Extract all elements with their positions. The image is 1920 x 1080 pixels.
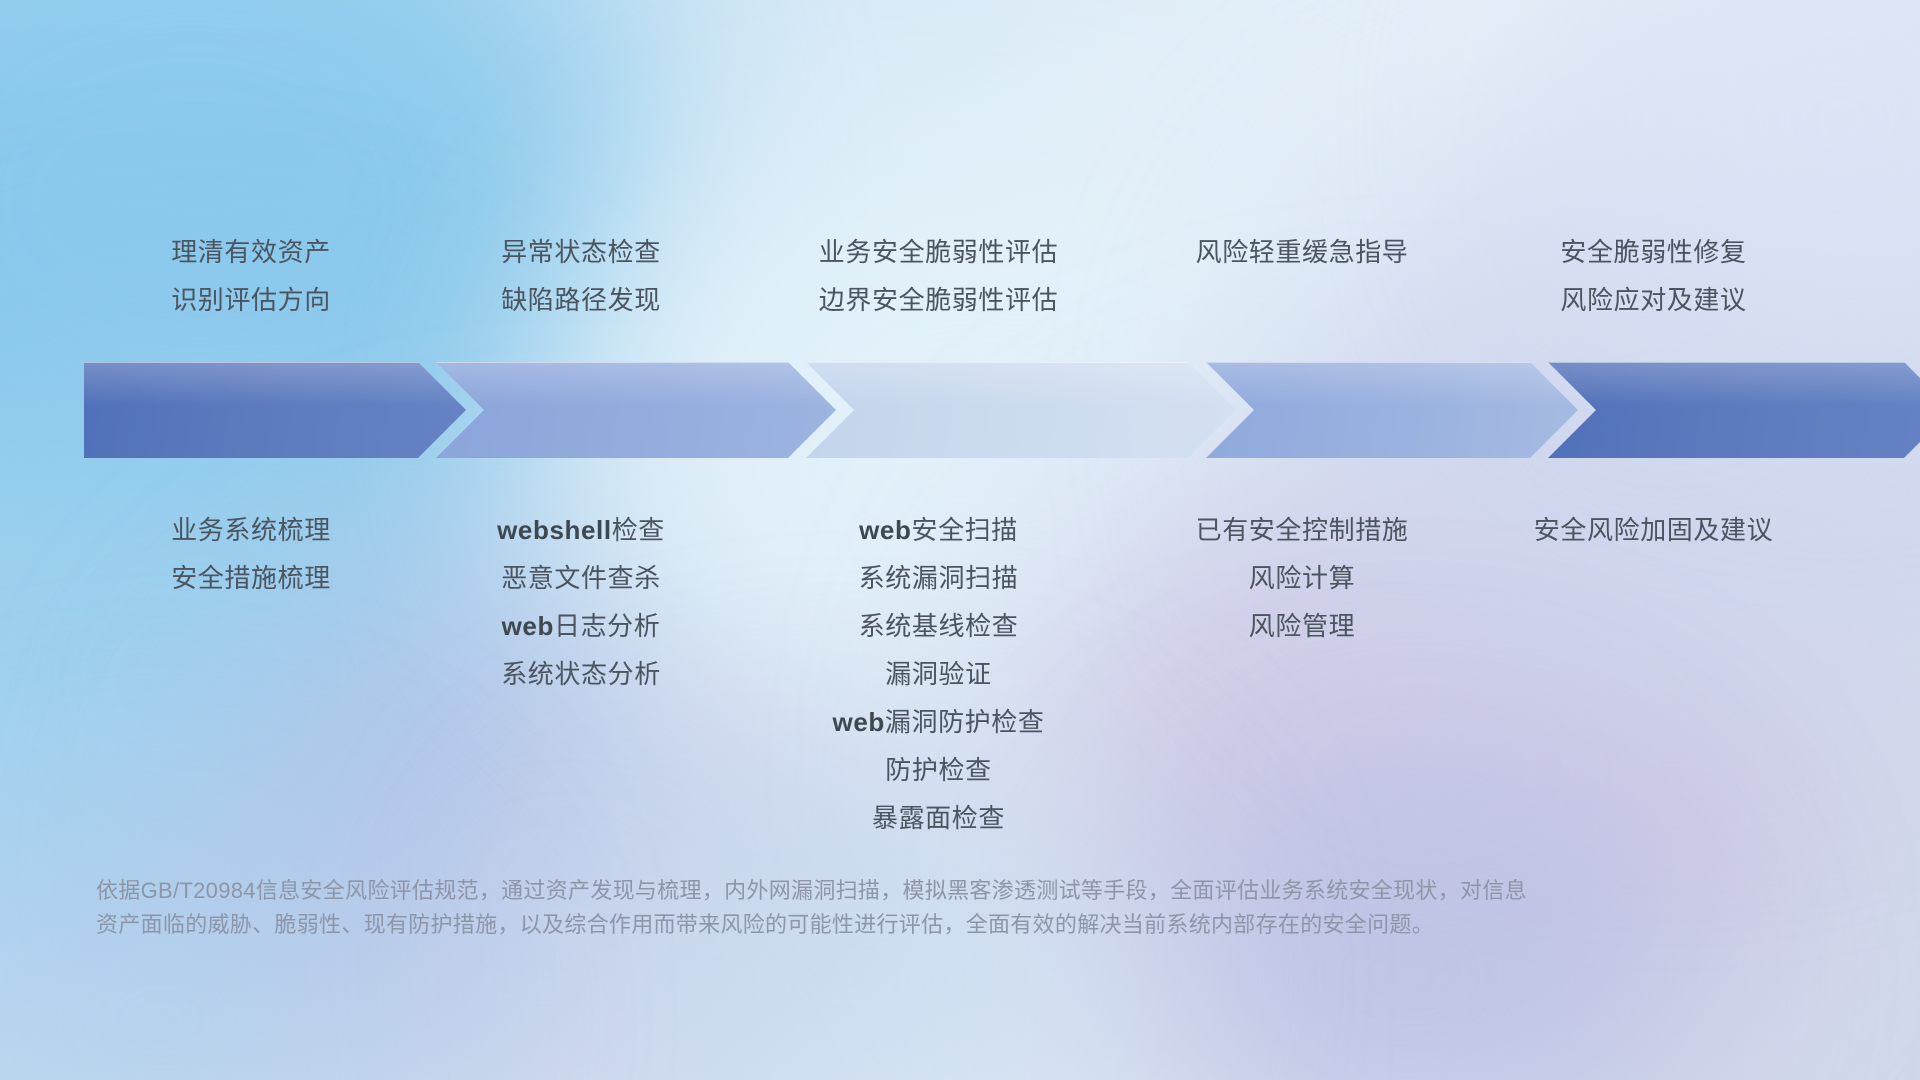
top-note: 理清有效资产 (171, 228, 331, 276)
bottom-note-text: 日志分析 (554, 611, 660, 641)
bottom-note: web安全扫描 (859, 506, 1018, 554)
bottom-notes-stage-4: 已有安全控制措施 风险计算 风险管理 (1131, 506, 1473, 650)
top-note: 安全脆弱性修复 (1560, 228, 1746, 276)
chevron-edge (1206, 362, 1578, 458)
process-stage-3[interactable]: 全面弱点检测 (806, 362, 1236, 458)
process-chevron-banner: 资产全面梳理 精准入侵检查 全面弱点检测 (84, 362, 1850, 458)
bottom-notes-stage-1: 业务系统梳理 安全措施梳理 (86, 506, 416, 602)
bottom-note-text: 安全措施梳理 (171, 563, 331, 593)
process-stage-5[interactable]: 风险评估报告 (1548, 362, 1920, 458)
bottom-note: 安全风险加固及建议 (1534, 506, 1773, 554)
chevron-shape (1548, 362, 1920, 458)
bottom-note-text: 风险管理 (1249, 611, 1355, 641)
chevron-shape (806, 362, 1236, 458)
bottom-note: web日志分析 (502, 602, 661, 650)
top-note: 异常状态检查 (501, 228, 661, 276)
top-notes-stage-5: 安全脆弱性修复 风险应对及建议 (1473, 228, 1834, 324)
footer-line-2: 资产面临的威胁、脆弱性、现有防护措施，以及综合作用而带来风险的可能性进行评估，全… (96, 908, 1636, 942)
bottom-note: 已有安全控制措施 (1196, 506, 1409, 554)
top-notes-stage-4: 风险轻重缓急指导 (1131, 228, 1473, 276)
bottom-notes-stage-2: webshell检查 恶意文件查杀 web日志分析 系统状态分析 (416, 506, 746, 698)
chevron-edge (1548, 362, 1920, 458)
bottom-note-text: 风险计算 (1249, 563, 1355, 593)
bottom-note: 业务系统梳理 (171, 506, 331, 554)
process-stage-4[interactable]: 风险分析 (1206, 362, 1578, 458)
bottom-notes-stage-5: 安全风险加固及建议 (1473, 506, 1834, 554)
top-note: 风险轻重缓急指导 (1196, 228, 1409, 276)
bottom-note: 系统基线检查 (859, 602, 1019, 650)
chevron-edge (436, 362, 836, 458)
top-note: 业务安全脆弱性评估 (819, 228, 1058, 276)
bottom-note: 系统漏洞扫描 (859, 554, 1019, 602)
chevron-shape (1206, 362, 1578, 458)
bottom-note: 风险管理 (1249, 602, 1355, 650)
top-note: 边界安全脆弱性评估 (819, 276, 1058, 324)
bottom-note: 安全措施梳理 (171, 554, 331, 602)
bottom-note-text: 防护检查 (885, 755, 991, 785)
bottom-note-emphasis: web (502, 611, 554, 641)
top-note: 风险应对及建议 (1560, 276, 1746, 324)
bottom-note: webshell检查 (497, 506, 665, 554)
bottom-note: 系统状态分析 (501, 650, 661, 698)
bottom-note-text: 暴露面检查 (872, 803, 1005, 833)
top-notes-stage-3: 业务安全脆弱性评估 边界安全脆弱性评估 (746, 228, 1131, 324)
chevron-shape (436, 362, 836, 458)
bottom-note: 暴露面检查 (872, 794, 1005, 842)
bottom-note-text: 业务系统梳理 (171, 515, 331, 545)
bottom-note-text: 漏洞防护检查 (885, 707, 1045, 737)
bottom-note: 防护检查 (885, 746, 991, 794)
bottom-note: 风险计算 (1249, 554, 1355, 602)
process-stage-1[interactable]: 资产全面梳理 (84, 362, 466, 458)
bottom-note-text: 恶意文件查杀 (501, 563, 661, 593)
top-notes-stage-2: 异常状态检查 缺陷路径发现 (416, 228, 746, 324)
bottom-note: 恶意文件查杀 (501, 554, 661, 602)
chevron-sheen (84, 362, 466, 406)
chevron-edge (806, 362, 1236, 458)
bottom-note-text: 检查 (612, 515, 665, 545)
chevron-sheen (1548, 362, 1920, 406)
bottom-note-text: 安全扫描 (911, 515, 1017, 545)
bottom-note-text: 系统基线检查 (859, 611, 1019, 641)
chevron-shape (84, 362, 466, 458)
bottom-note: web漏洞防护检查 (833, 698, 1045, 746)
chevron-sheen (436, 362, 836, 406)
bottom-note: 漏洞验证 (885, 650, 991, 698)
bottom-notes-row: 业务系统梳理 安全措施梳理 webshell检查 恶意文件查杀 web日志分析 … (86, 506, 1834, 836)
bottom-note-text: 系统状态分析 (501, 659, 661, 689)
top-note: 缺陷路径发现 (501, 276, 661, 324)
chevron-edge (84, 362, 466, 458)
bottom-notes-stage-3: web安全扫描 系统漏洞扫描 系统基线检查 漏洞验证 web漏洞防护检查 防护检… (746, 506, 1131, 842)
bottom-note-emphasis: web (833, 707, 885, 737)
chevron-sheen (806, 362, 1236, 406)
bottom-note-text: 已有安全控制措施 (1196, 515, 1409, 545)
bottom-note-emphasis: web (859, 515, 911, 545)
bottom-note-text: 漏洞验证 (885, 659, 991, 689)
chevron-sheen (1206, 362, 1578, 406)
process-stage-2[interactable]: 精准入侵检查 (436, 362, 836, 458)
slide-canvas: 理清有效资产 识别评估方向 异常状态检查 缺陷路径发现 业务安全脆弱性评估 边界… (0, 0, 1920, 1080)
bottom-note-text: 安全风险加固及建议 (1534, 515, 1773, 545)
top-notes-row: 理清有效资产 识别评估方向 异常状态检查 缺陷路径发现 业务安全脆弱性评估 边界… (86, 228, 1834, 348)
bottom-note-emphasis: webshell (497, 515, 612, 545)
bottom-note-text: 系统漏洞扫描 (859, 563, 1019, 593)
top-note: 识别评估方向 (171, 276, 331, 324)
footer-description: 依据GB/T20984信息安全风险评估规范，通过资产发现与梳理，内外网漏洞扫描，… (96, 874, 1636, 942)
top-notes-stage-1: 理清有效资产 识别评估方向 (86, 228, 416, 324)
footer-line-1: 依据GB/T20984信息安全风险评估规范，通过资产发现与梳理，内外网漏洞扫描，… (96, 874, 1636, 908)
